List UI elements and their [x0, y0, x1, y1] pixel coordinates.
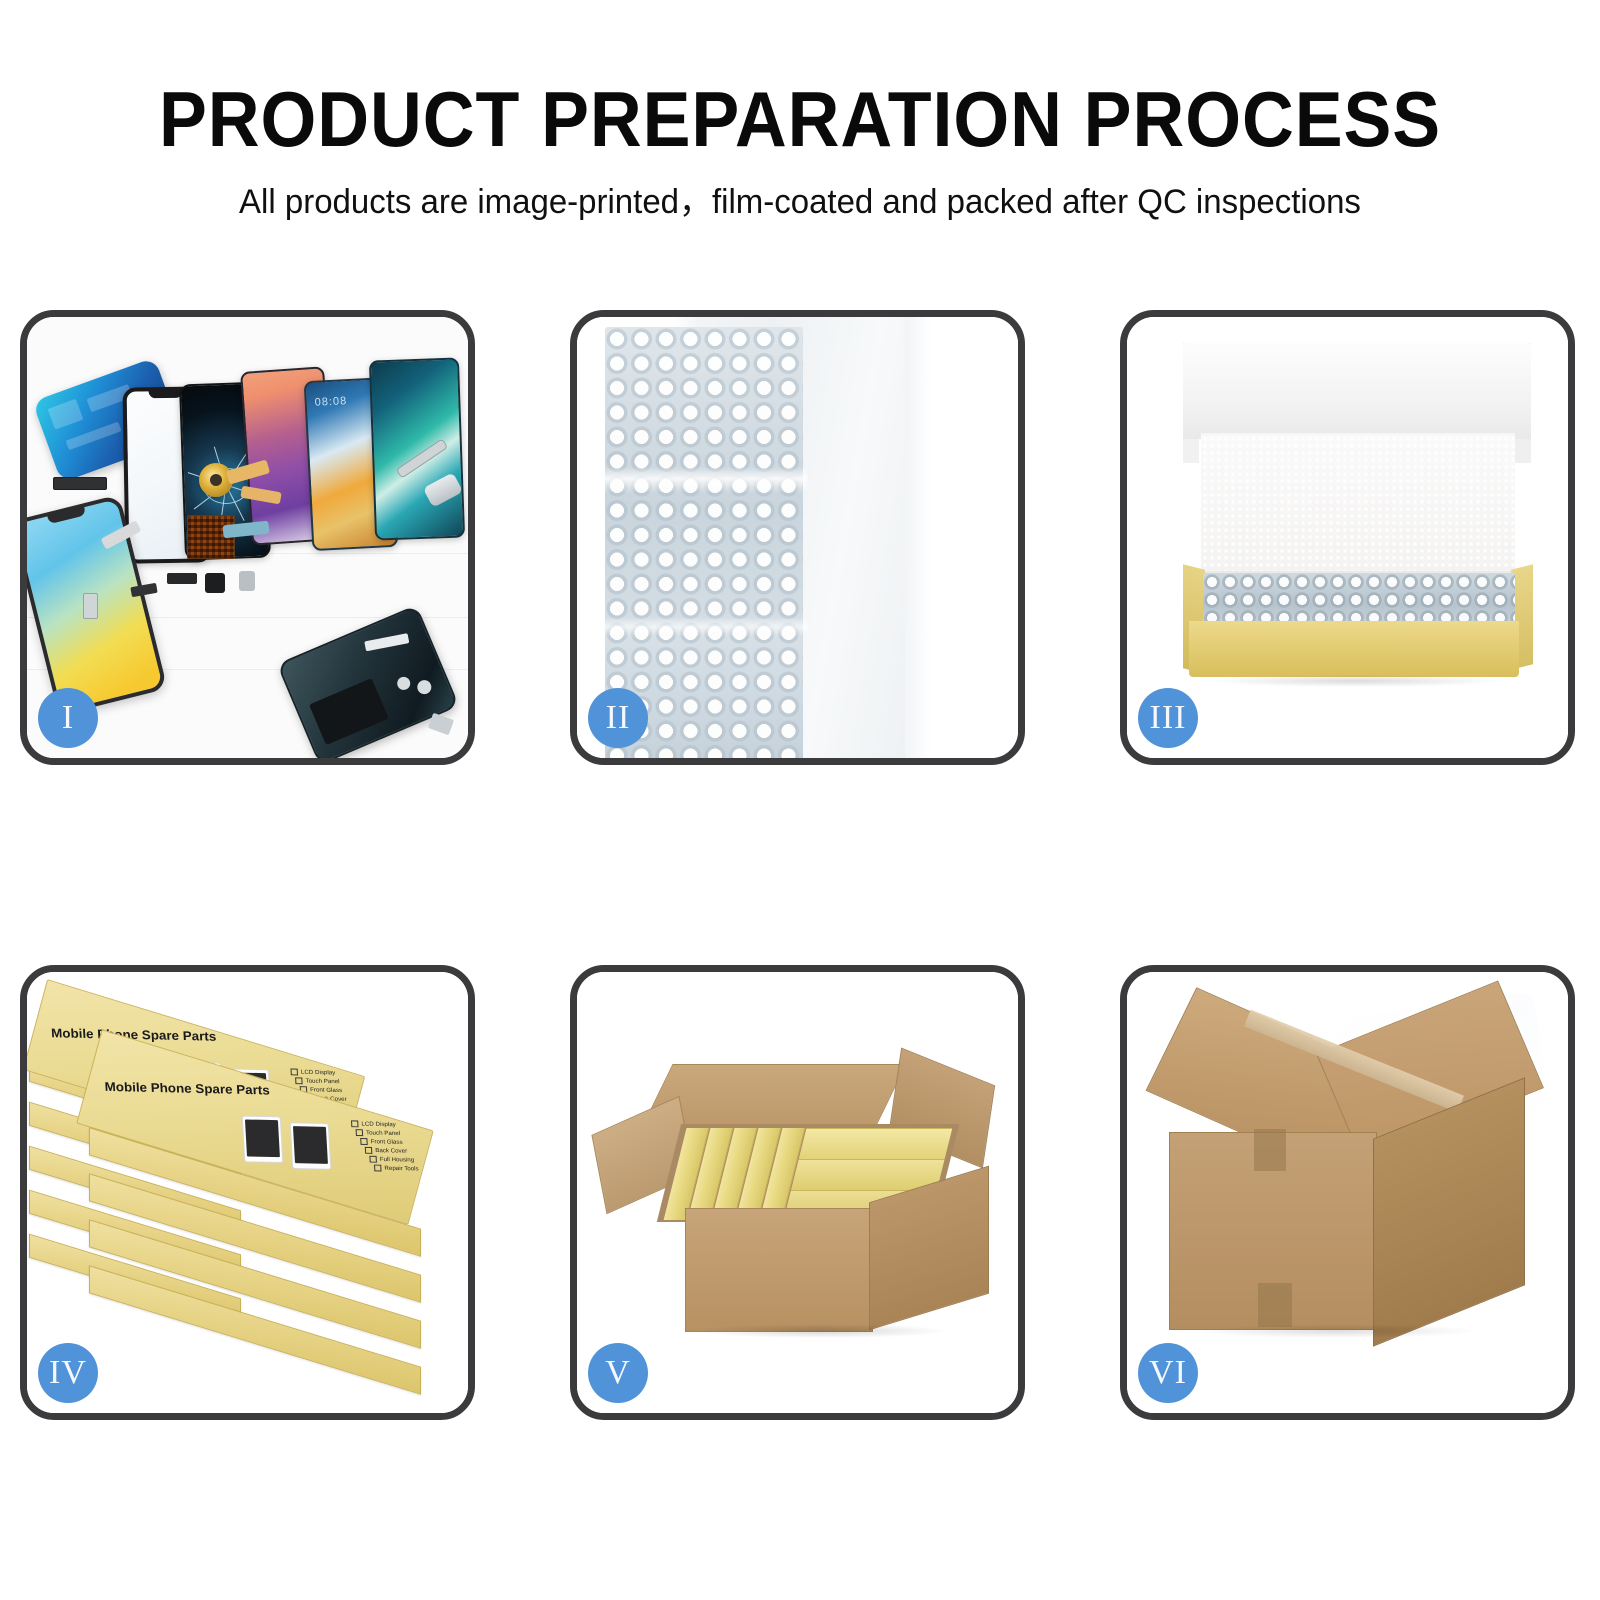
- sim-tray-icon: [83, 593, 98, 619]
- step-badge-1: I: [38, 688, 98, 748]
- step-panel-6: VI: [1120, 965, 1575, 1420]
- sealed-carton-image: [1127, 972, 1568, 1413]
- box-front-panel: [1189, 621, 1519, 677]
- foam-insert: [1201, 435, 1515, 571]
- step-image-5: [577, 972, 1018, 1413]
- camera-module-icon: [239, 571, 255, 591]
- bubble-wrap-image: [577, 317, 1018, 758]
- step-panel-5: V: [570, 965, 1025, 1420]
- step-image-6: [1127, 972, 1568, 1413]
- stacked-retail-boxes-image: Mobile Phone Spare Parts LCD Display Tou…: [27, 972, 468, 1413]
- product-preparation-infographic: PRODUCT PREPARATION PROCESS All products…: [0, 0, 1600, 1600]
- box-lid: [1183, 343, 1531, 439]
- open-phone-housing-icon: [277, 605, 460, 758]
- step-panel-1: 08:08: [20, 310, 475, 765]
- open-mailer-box-image: [1127, 317, 1568, 758]
- step-badge-4: IV: [38, 1343, 98, 1403]
- step-image-1: 08:08: [27, 317, 468, 758]
- step-badge-5: V: [588, 1343, 648, 1403]
- open-carton-image: [577, 972, 1018, 1413]
- page-subtitle: All products are image-printed，film-coat…: [24, 160, 1576, 222]
- speaker-part-icon: [53, 477, 107, 490]
- step-image-3: [1127, 317, 1568, 758]
- phone-parts-collage-image: 08:08: [27, 317, 468, 758]
- page-title: PRODUCT PREPARATION PROCESS: [64, 0, 1536, 160]
- bubble-wrapped-product: [1203, 573, 1515, 625]
- step-image-4: Mobile Phone Spare Parts LCD Display Tou…: [27, 972, 468, 1413]
- process-steps-grid: 08:08: [20, 310, 1580, 1450]
- connector-part-icon: [167, 573, 197, 584]
- screws-icon: [428, 713, 454, 736]
- step-badge-2: II: [588, 688, 648, 748]
- step-panel-3: III: [1120, 310, 1575, 765]
- step-badge-3: III: [1138, 688, 1198, 748]
- header: PRODUCT PREPARATION PROCESS All products…: [0, 0, 1600, 222]
- step-image-2: [577, 317, 1018, 758]
- retail-box-brand-label: Mobile Phone Spare Parts: [104, 1079, 270, 1097]
- step-panel-4: Mobile Phone Spare Parts LCD Display Tou…: [20, 965, 475, 1420]
- camera-module-icon: [205, 573, 225, 593]
- carton-front-panel: [685, 1208, 873, 1332]
- step-panel-2: II: [570, 310, 1025, 765]
- teal-wave-phone-icon: [369, 357, 465, 540]
- carton-front-panel: [1169, 1132, 1377, 1330]
- step-badge-6: VI: [1138, 1343, 1198, 1403]
